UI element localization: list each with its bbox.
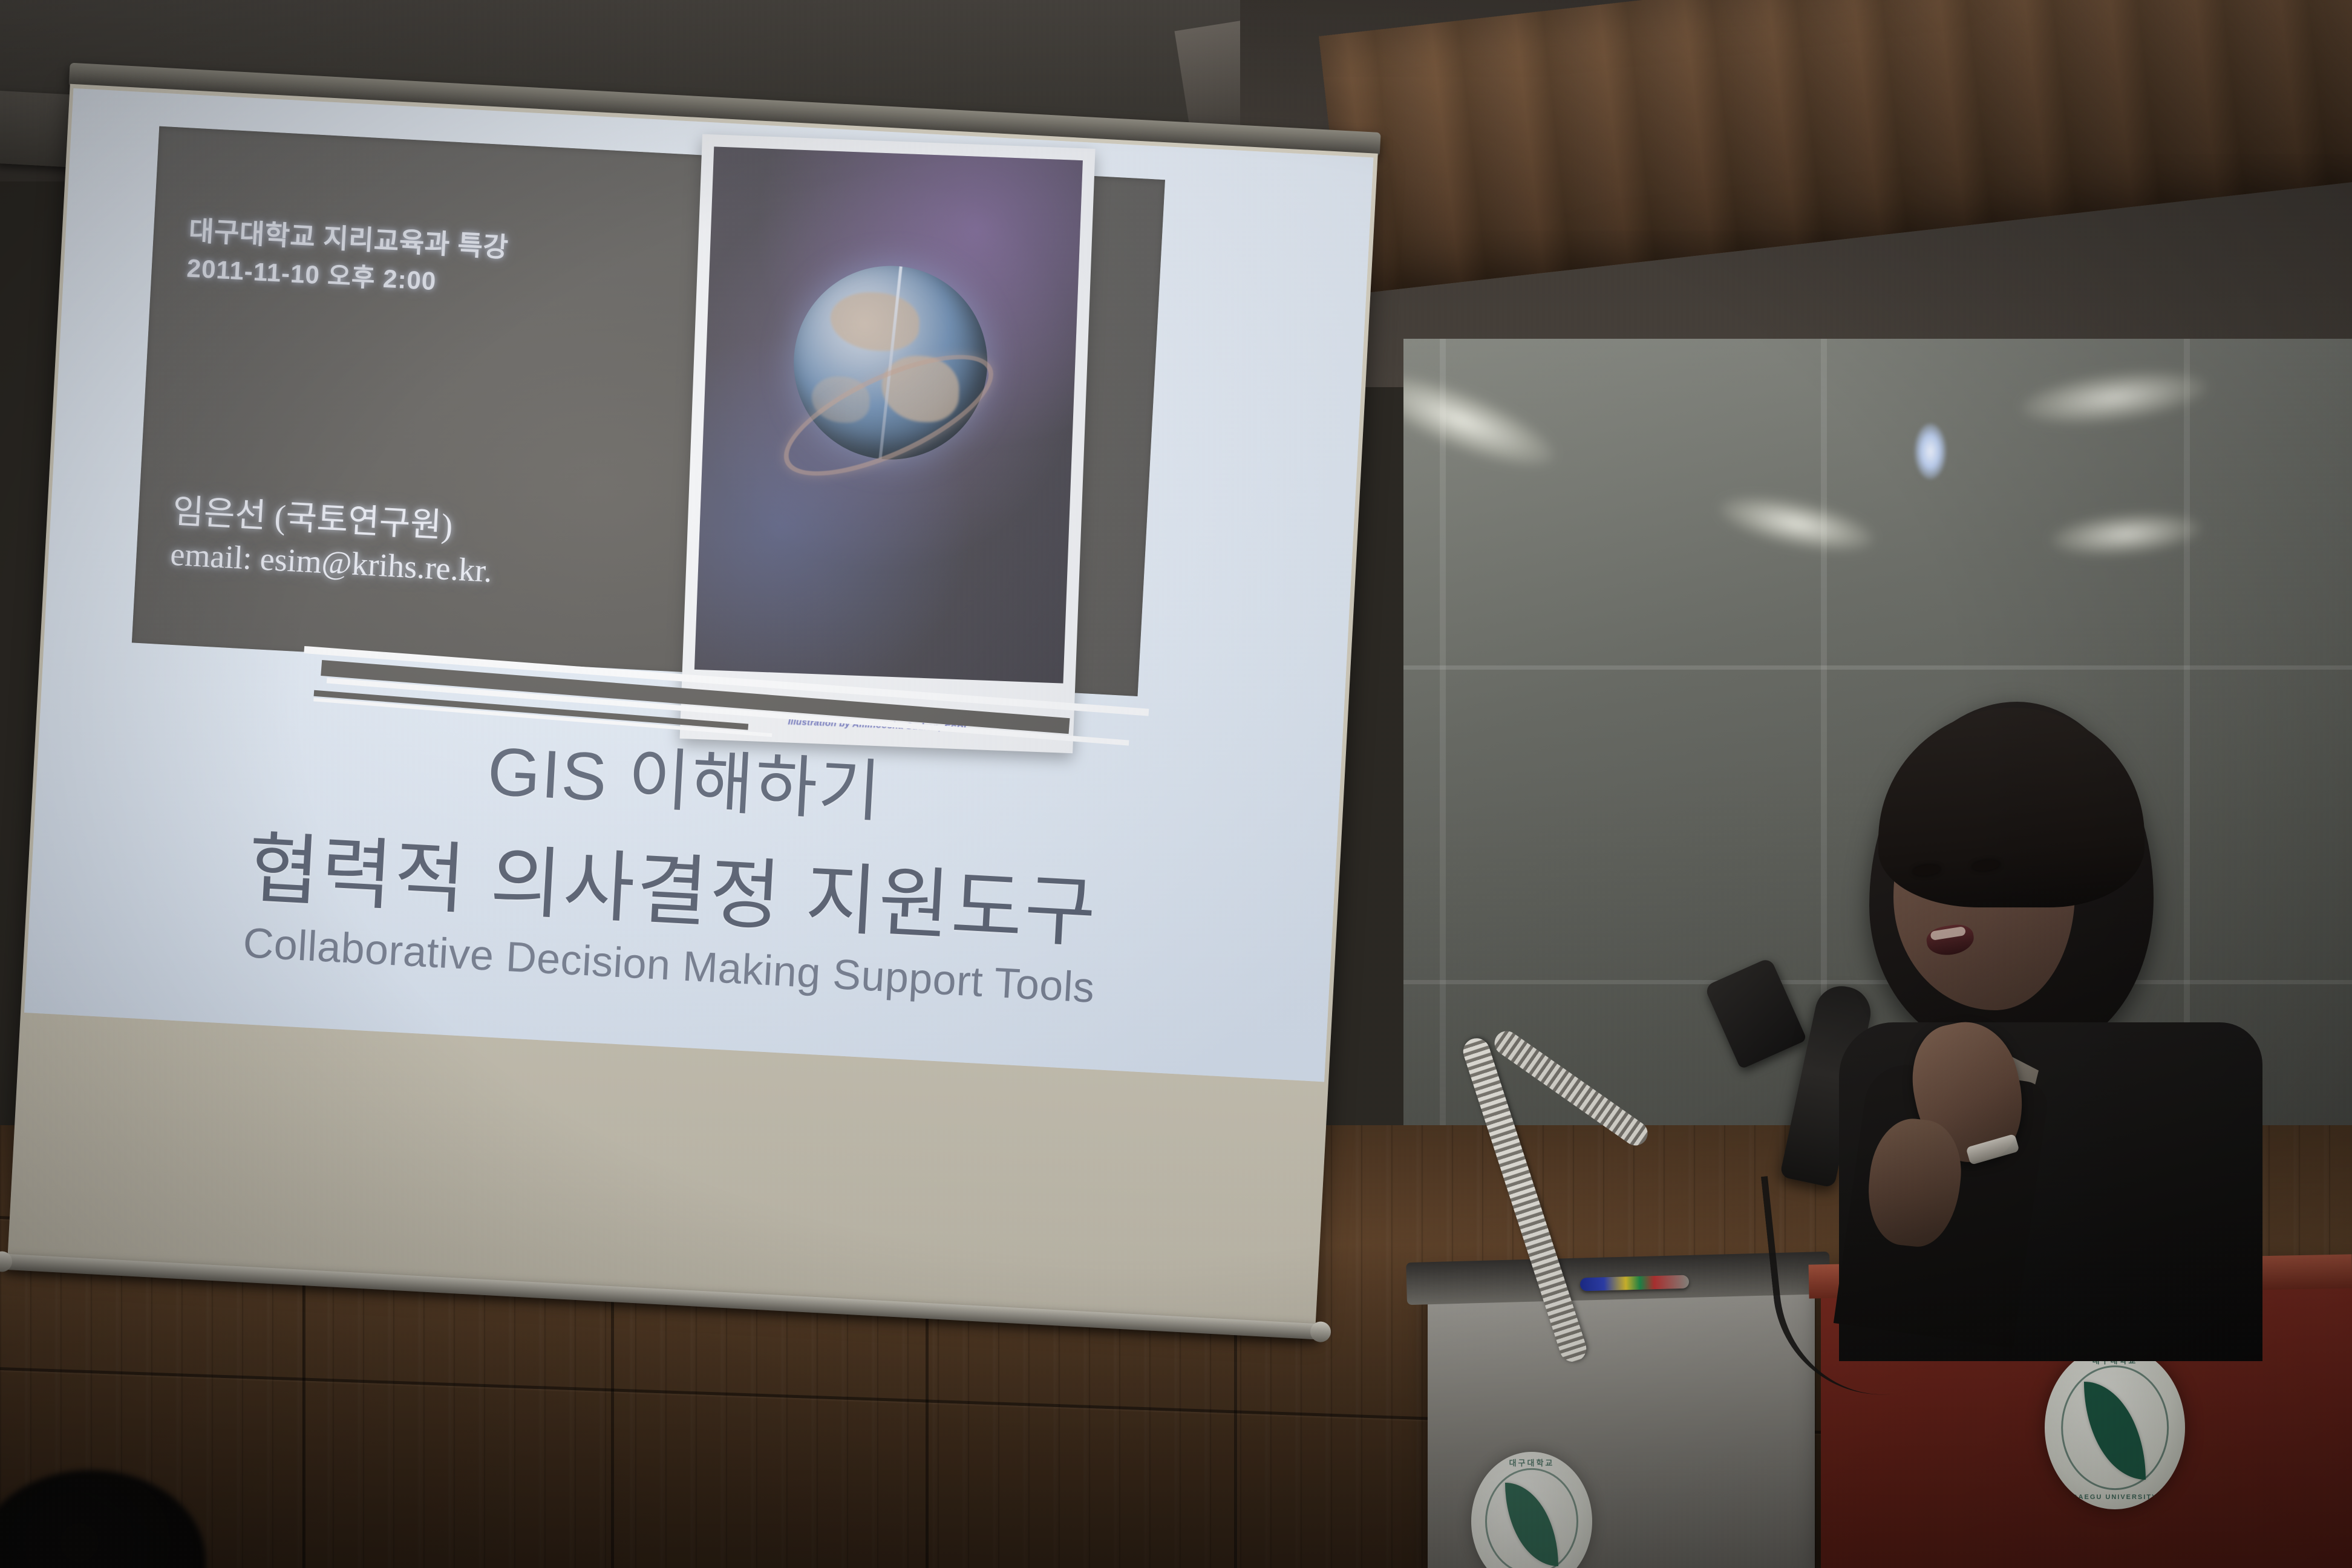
- university-emblem: 대구대학교 DAEGU UNIVERSITY: [2045, 1346, 2185, 1509]
- presenter-hair-front: [1878, 708, 2145, 907]
- slide-image-card: Illustration by Aminoosha Sudran, ESRI: [680, 134, 1096, 754]
- projected-slide: 대구대학교 지리교육과 특강 2011-11-10 오후 2:00 임은선 (국…: [24, 88, 1373, 1082]
- globe-landmass: [829, 291, 921, 352]
- pen[interactable]: [1580, 1275, 1690, 1292]
- presenter: [1772, 684, 2269, 1349]
- lecture-hall-photo: 대구대학교 지리교육과 특강 2011-11-10 오후 2:00 임은선 (국…: [0, 0, 2352, 1568]
- slide-header: 대구대학교 지리교육과 특강 2011-11-10 오후 2:00: [186, 212, 509, 303]
- globe-illustration: [694, 146, 1083, 683]
- projection-screen: 대구대학교 지리교육과 특강 2011-11-10 오후 2:00 임은선 (국…: [71, 73, 1368, 1467]
- cart-emblem-label-kr: 대구대학교: [1471, 1457, 1592, 1468]
- slide-dark-panel: 대구대학교 지리교육과 특강 2011-11-10 오후 2:00 임은선 (국…: [132, 126, 1165, 696]
- emblem-label-en: DAEGU UNIVERSITY: [2045, 1494, 2185, 1501]
- slide-presenter-block: 임은선 (국토연구원) email: esim@krihs.re.kr.: [169, 491, 495, 592]
